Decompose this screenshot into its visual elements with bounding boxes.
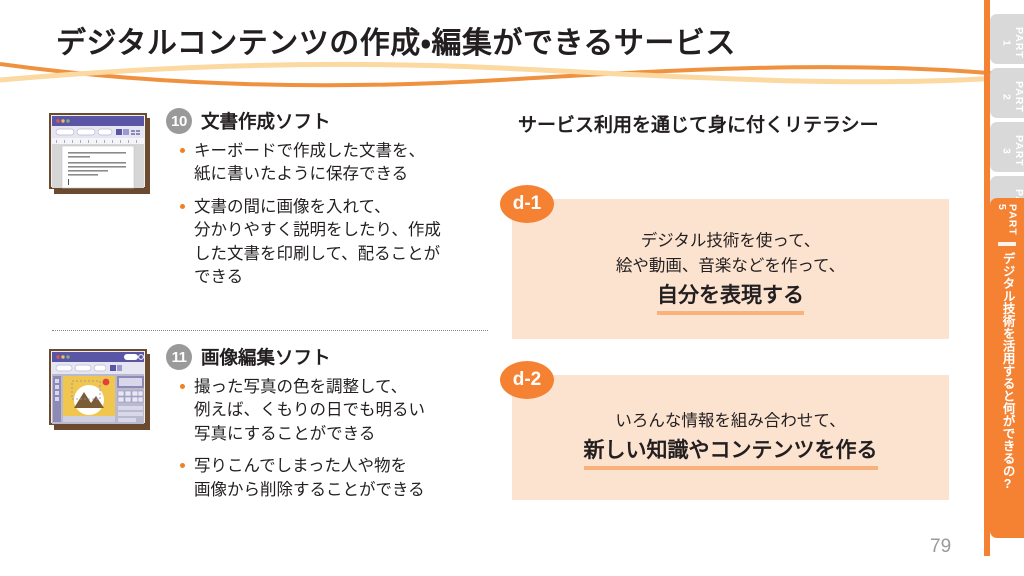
software-item-11-head: 11 画像編集ソフト (166, 344, 488, 370)
left-column: 10 文書作成ソフト キーボードで作成した文書を、 紙に書いたように保存できる … (48, 108, 488, 528)
literacy-panel: デジタル技術を使って、 絵や動画、音楽などを作って、 自分を表現する (512, 199, 949, 339)
sidebar-tab-part-1[interactable]: PART 1 (990, 14, 1024, 64)
bullet-item: 文書の間に画像を入れて、 分かりやすく説明をしたり、作成 した文書を印刷して、配… (178, 196, 488, 290)
sidebar-tab-number: 5 (997, 204, 1008, 210)
literacy-card-d1: d-1 デジタル技術を使って、 絵や動画、音楽などを作って、 自分を表現する (512, 199, 962, 339)
sidebar-tab-part-5-head: PART 5 (997, 204, 1018, 236)
bullet-item: 写りこんでしまった人や物を 画像から削除することができる (178, 455, 488, 502)
sidebar-tab-part-5[interactable]: PART 5 デジタル技術を活用すると何ができるの? (990, 198, 1024, 538)
item-title: 画像編集ソフト (201, 344, 331, 370)
software-item-11-bullets: 撮った写真の色を調整して、 例えば、くもりの日でも明るい 写真にすることができる… (166, 376, 488, 502)
literacy-heading: サービス利用を通じて身に付くリテラシー (518, 110, 962, 137)
sidebar-tab-part-3[interactable]: PART 3 (990, 122, 1024, 172)
literacy-card-d2: d-2 いろんな情報を組み合わせて、 新しい知識やコンテンツを作る (512, 375, 962, 500)
software-item-10: 10 文書作成ソフト キーボードで作成した文書を、 紙に書いたように保存できる … (48, 108, 488, 330)
literacy-badge: d-1 (500, 185, 554, 223)
literacy-emphasis: 新しい知識やコンテンツを作る (584, 437, 878, 470)
page-number: 79 (930, 536, 951, 558)
software-item-11-body: 11 画像編集ソフト 撮った写真の色を調整して、 例えば、くもりの日でも明るい … (166, 344, 488, 502)
item-title: 文書作成ソフト (201, 108, 331, 134)
sidebar-tab-separator (998, 242, 1016, 246)
literacy-emphasis: 自分を表現する (657, 282, 804, 315)
literacy-line: デジタル技術を使って、 (512, 229, 949, 254)
sidebar-tab-label: PART (1014, 27, 1024, 59)
software-item-10-bullets: キーボードで作成した文書を、 紙に書いたように保存できる 文書の間に画像を入れて… (166, 140, 488, 290)
sidebar-tab-number: 2 (1001, 94, 1012, 100)
section-divider (52, 330, 488, 332)
wave-decoration-icon (0, 52, 1000, 98)
sidebar-tab-part-2[interactable]: PART 2 (990, 68, 1024, 118)
item-number-badge: 11 (166, 344, 192, 370)
literacy-line: いろんな情報を組み合わせて、 (512, 409, 949, 434)
word-processor-window-icon (48, 112, 152, 196)
literacy-panel: いろんな情報を組み合わせて、 新しい知識やコンテンツを作る (512, 375, 949, 500)
sidebar-tab-label: PART (1014, 81, 1024, 113)
literacy-badge: d-2 (500, 361, 554, 399)
part-sidebar: PART 1 PART 2 PART 3 PART 4 PART 5 デジタル技… (984, 0, 1024, 576)
sidebar-tab-number: 1 (1001, 40, 1012, 46)
right-column: サービス利用を通じて身に付くリテラシー d-1 デジタル技術を使って、 絵や動画… (512, 108, 962, 528)
bullet-item: 撮った写真の色を調整して、 例えば、くもりの日でも明るい 写真にすることができる (178, 376, 488, 446)
sidebar-tab-label: PART (1014, 135, 1024, 167)
item-number-badge: 10 (166, 108, 192, 134)
software-item-10-head: 10 文書作成ソフト (166, 108, 488, 134)
software-item-10-body: 10 文書作成ソフト キーボードで作成した文書を、 紙に書いたように保存できる … (166, 108, 488, 290)
bullet-item: キーボードで作成した文書を、 紙に書いたように保存できる (178, 140, 488, 187)
sidebar-tab-title: デジタル技術を活用すると何ができるの? (1000, 252, 1013, 491)
image-editor-window-icon (48, 348, 152, 432)
software-item-11: 11 画像編集ソフト 撮った写真の色を調整して、 例えば、くもりの日でも明るい … (48, 344, 488, 502)
slide-root: デジタルコンテンツの作成・編集ができるサービス (0, 0, 1024, 576)
literacy-line: 絵や動画、音楽などを作って、 (512, 254, 949, 279)
sidebar-tab-label: PART (1007, 204, 1018, 236)
sidebar-tab-number: 3 (1001, 148, 1012, 154)
